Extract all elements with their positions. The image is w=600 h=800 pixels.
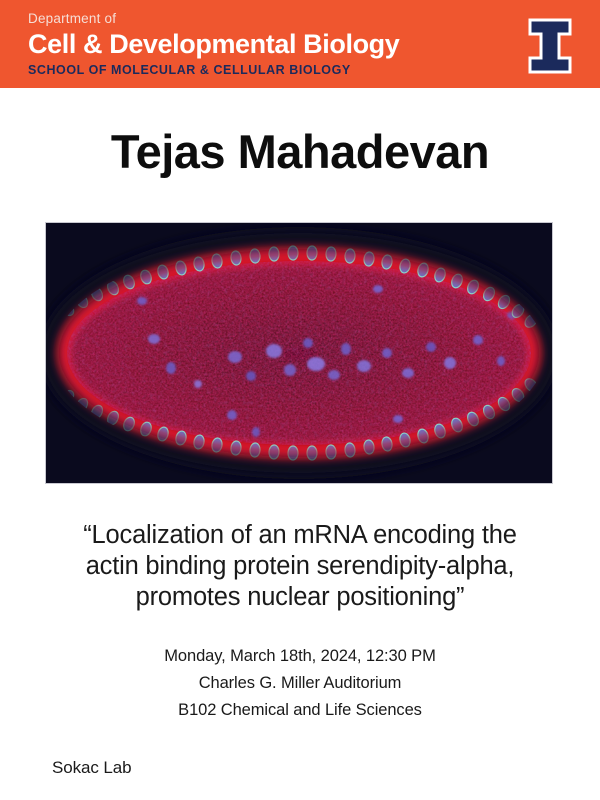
microscopy-figure: [45, 222, 553, 484]
illinois-block-i-icon: [527, 17, 573, 75]
talk-title-line-2: actin binding protein serendipity-alpha,: [30, 551, 570, 582]
header-band: Department of Cell & Developmental Biolo…: [0, 0, 600, 88]
page-title: Tejas Mahadevan: [0, 124, 600, 180]
lab-name: Sokac Lab: [52, 758, 131, 778]
talk-title-line-3: promotes nuclear positioning”: [30, 582, 570, 613]
department-of-label: Department of: [28, 10, 468, 27]
school-subtitle: SCHOOL OF MOLECULAR & CELLULAR BIOLOGY: [28, 62, 468, 78]
department-name-title: Cell & Developmental Biology: [28, 28, 468, 60]
talk-title-line-1: “Localization of an mRNA encoding the: [30, 520, 570, 551]
event-venue: Charles G. Miller Auditorium: [0, 670, 600, 697]
event-datetime: Monday, March 18th, 2024, 12:30 PM: [0, 643, 600, 670]
talk-title: “Localization of an mRNA encoding the ac…: [30, 520, 570, 613]
header-text-block: Department of Cell & Developmental Biolo…: [28, 10, 468, 78]
event-building: B102 Chemical and Life Sciences: [0, 697, 600, 724]
event-details: Monday, March 18th, 2024, 12:30 PM Charl…: [0, 643, 600, 724]
